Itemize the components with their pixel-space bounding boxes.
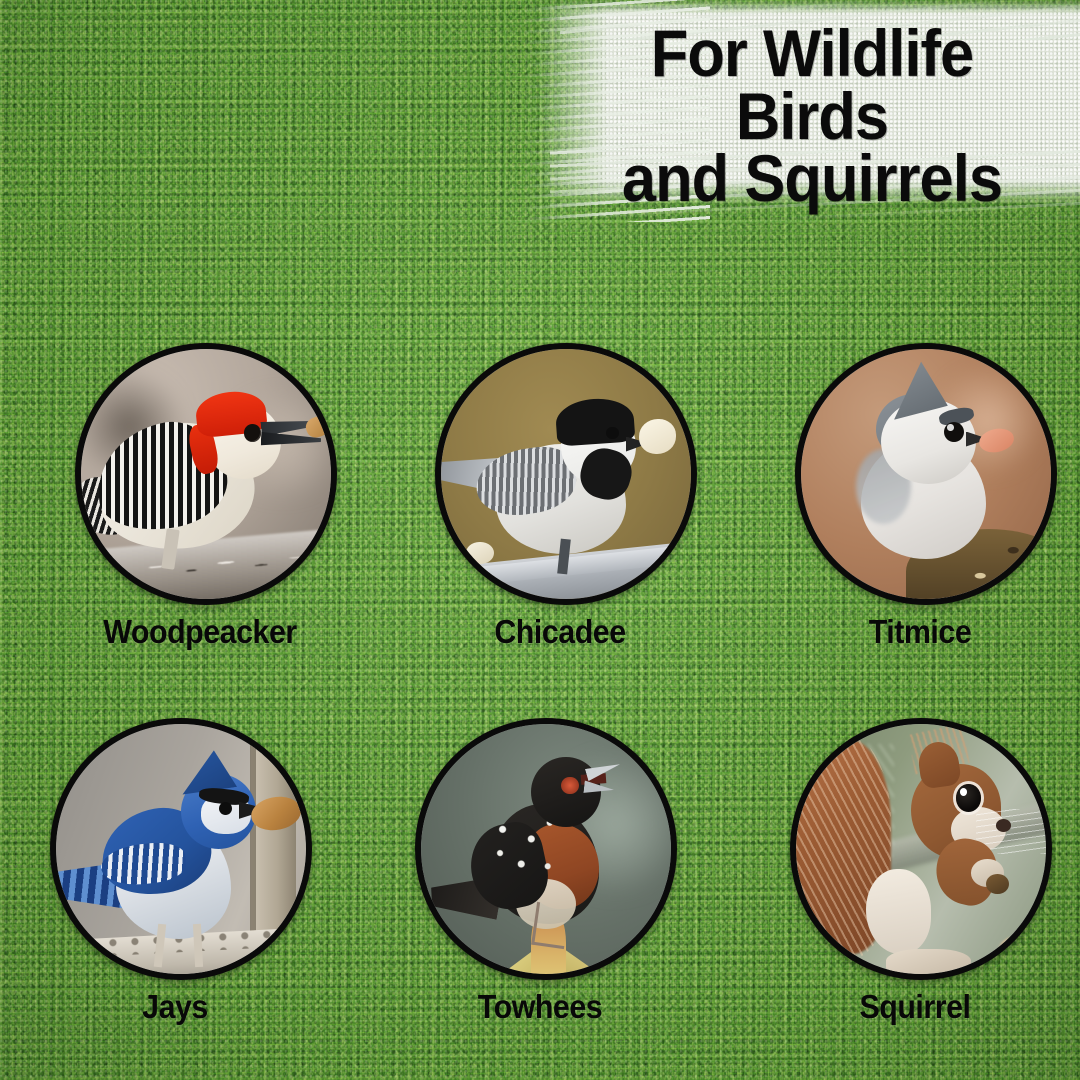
headline-line-2: and Squirrels [568, 147, 1055, 210]
headline-text: For Wildlife Birds and Squirrels [568, 22, 1055, 210]
photo-circle-woodpecker [75, 343, 337, 605]
caption-jay: Jays [60, 988, 290, 1026]
headline-banner: For Wildlife Birds and Squirrels [520, 0, 1080, 222]
photo-blue-jay [56, 724, 306, 974]
photo-circle-chickadee [435, 343, 697, 605]
photo-towhee [421, 724, 671, 974]
caption-woodpecker: Woodpeacker [85, 613, 315, 651]
photo-chickadee [441, 349, 691, 599]
caption-squirrel: Squirrel [800, 988, 1030, 1026]
photo-squirrel [796, 724, 1046, 974]
gallery-item-squirrel: Squirrel [790, 718, 1040, 1026]
headline-line-1: For Wildlife Birds [651, 16, 973, 153]
gallery-item-woodpecker: Woodpeacker [75, 343, 325, 651]
caption-chickadee: Chicadee [445, 613, 675, 651]
photo-titmouse [801, 349, 1051, 599]
photo-circle-titmouse [795, 343, 1057, 605]
caption-towhee: Towhees [425, 988, 655, 1026]
gallery-item-jay: Jays [50, 718, 300, 1026]
gallery-item-towhee: Towhees [415, 718, 665, 1026]
photo-circle-squirrel [790, 718, 1052, 980]
photo-woodpecker [81, 349, 331, 599]
photo-circle-towhee [415, 718, 677, 980]
gallery-item-titmouse: Titmice [795, 343, 1045, 651]
caption-titmouse: Titmice [805, 613, 1035, 651]
gallery-item-chickadee: Chicadee [435, 343, 685, 651]
photo-circle-jay [50, 718, 312, 980]
product-infographic-poster: For Wildlife Birds and Squirrels [0, 0, 1080, 1080]
